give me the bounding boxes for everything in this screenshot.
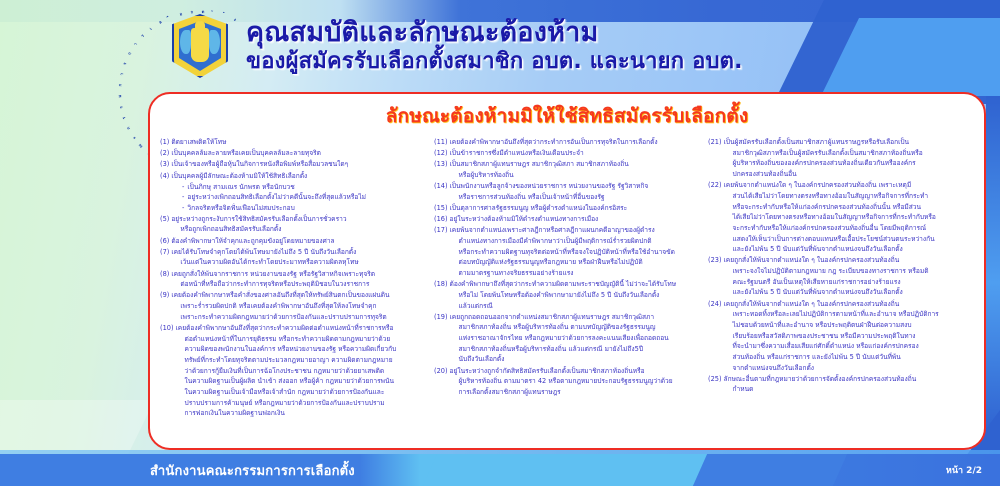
list-item: (12)เป็นข้าราชการซึ่งมีตำแหน่งหรือเงินเด… (434, 148, 700, 159)
list-item-continuation: แล้วแต่กรณี (450, 301, 700, 312)
list-item-continuation: จะกระทำกับหรือให้แก่องค์กรปกครองส่วนท้อง… (724, 223, 974, 234)
list-item-continuation: ต่อหน้าที่หรือถือว่ากระทำการทุจริตหรือปร… (171, 279, 426, 290)
emblem-circular-caption: สำนักงานคณะกรรมการการเลือกตั้ง (158, 8, 242, 92)
list-item: (2)เป็นบุคคลล้มละลายหรือเคยเป็นบุคคลล้มล… (160, 148, 426, 159)
list-item-number: (6) (160, 236, 171, 247)
list-item-text: อยู่ในระหว่างต้องห้ามมิให้ดำรงตำแหน่งทาง… (450, 214, 700, 225)
list-item-text: เป็นบุคคลผู้มีลักษณะต้องห้ามมิให้ใช้สิทธ… (171, 171, 426, 182)
list-item-continuation: สมาชิกวุฒิสภาหรือเป็นผู้สมัครรับเลือกตั้… (724, 148, 974, 159)
list-item-text: เคยได้รับโทษจำคุกโดยได้พ้นโทษมายังไม่ถึง… (171, 247, 426, 268)
list-item-text: อยู่ในระหว่างถูกจำกัดสิทธิสมัครรับเลือกต… (450, 366, 700, 398)
list-item-continuation: การฟอกเงินในความผิดฐานฟอกเงิน (176, 408, 426, 419)
list-item-text: เคยถูกถอดถอนออกจากตำแหน่งสมาชิกสภาผู้แทน… (450, 312, 700, 365)
list-item-text: ต้องคำพิพากษาให้จำคุกและถูกคุมขังอยู่โดย… (171, 236, 426, 247)
list-item-continuation: ตามมาตรฐานทางจริยธรรมอย่างร้ายแรง (450, 268, 700, 279)
list-item-number: (3) (160, 159, 171, 170)
list-item-continuation: หรือกระทำความผิดฐานทุจริตต่อหน้าที่หรือจ… (450, 247, 700, 258)
list-item-text: เคยพ้นจากตำแหน่งเพราะศาลฎีกาหรือศาลฎีกาแ… (450, 225, 700, 278)
list-item-continuation: จากตำแหน่งจนถึงวันเลือกตั้ง (724, 363, 974, 374)
list-item-text: ลักษณะอื่นตามที่กฎหมายว่าด้วยการจัดตั้งอ… (724, 374, 974, 395)
ect-emblem-icon: สำนักงานคณะกรรมการการเลือกตั้ง (158, 8, 242, 92)
list-item-text: เป็นตุลาการศาลรัฐธรรมนูญ หรือผู้ดำรงตำแห… (450, 203, 700, 214)
list-item-number: (18) (434, 279, 450, 290)
list-item: (11)เคยต้องคำพิพากษาอันถึงที่สุดว่ากระทำ… (434, 137, 700, 148)
list-item: (3)เป็นเจ้าของหรือผู้ถือหุ้นในกิจการหนัง… (160, 159, 426, 170)
list-item: (18)ต้องคำพิพากษาถึงที่สุดว่ากระทำความผิ… (434, 279, 700, 311)
list-item-text: เคยต้องคำพิพากษาอันถึงที่สุดว่ากระทำความ… (176, 323, 426, 419)
page-subtitle: ของผู้สมัครรับเลือกตั้งสมาชิก อบต. และนา… (246, 49, 743, 75)
sub-list-item-text: เป็นภิกษุ สามเณร นักพรต หรือนักบวช (187, 182, 294, 193)
list-item-continuation: ที่จะนำมาซึ่งความเสื่อมเสียแก่ศักดิ์ตำแห… (724, 341, 974, 352)
list-item-continuation: ต่อตำแหน่งหน้าที่ในการยุติธรรม หรือกระทำ… (176, 334, 426, 345)
list-item: (23)เคยถูกสั่งให้พ้นจากตำแหน่งใด ๆ ในองค… (708, 255, 974, 298)
sub-list-item: -วิกลจริตหรือจิตฟั่นเฟือนไม่สมประกอบ (160, 203, 426, 214)
sub-list-item: -อยู่ระหว่างเพิกถอนสิทธิเลือกตั้งไม่ว่าค… (160, 192, 426, 203)
list-item-continuation: ไม่ชอบด้วยหน้าที่และอำนาจ หรือประพฤติตนฝ… (724, 320, 974, 331)
list-item: (19)เคยถูกถอดถอนออกจากตำแหน่งสมาชิกสภาผู… (434, 312, 700, 365)
list-item: (14)เป็นพนักงานหรือลูกจ้างของหน่วยราชการ… (434, 181, 700, 202)
list-item-continuation: หรือผู้บริหารท้องถิ่น (450, 170, 700, 181)
list-item-continuation: สมาชิกสภาท้องถิ่น หรือผู้บริหารท้องถิ่น … (450, 322, 700, 333)
list-item-continuation: หรือราชการส่วนท้องถิ่น หรือเป็นเจ้าหน้าท… (450, 192, 700, 203)
card-heading: ลักษณะต้องห้ามมิให้ใช้สิทธิสมัครรับเลือก… (160, 101, 974, 131)
list-item-continuation: ในความผิดฐานเป็นเจ้ามือหรือเจ้าสำนัก กฎห… (176, 387, 426, 398)
list-item-number: (5) (160, 214, 171, 225)
list-item-continuation: ได้เสียไม่ว่าโดยทางตรงหรือทางอ้อมในสัญญา… (724, 212, 974, 223)
list-item: (24)เคยถูกสั่งให้พ้นจากตำแหน่งใด ๆ ในองค… (708, 299, 974, 374)
list-item: (8)เคยถูกสั่งให้พ้นจากราชการ หน่วยงานของ… (160, 269, 426, 290)
column-1: (1)ติดยาเสพติดให้โทษ(2)เป็นบุคคลล้มละลาย… (160, 137, 426, 447)
list-item-text: เป็นผู้สมัครรับเลือกตั้งเป็นสมาชิกสภาผู้… (724, 137, 974, 180)
list-item: (22)เคยพ้นจากตำแหน่งใด ๆ ในองค์กรปกครองส… (708, 180, 974, 255)
list-item-continuation: กำหนด (724, 384, 974, 395)
infographic-poster: สำนักงานคณะกรรมการการเลือกตั้ง คุณสมบัติ… (0, 0, 1000, 486)
list-item-continuation: ปราบปรามการค้ามนุษย์ หรือกฎหมายว่าด้วยกา… (176, 398, 426, 409)
list-item-text: เคยถูกสั่งให้พ้นจากตำแหน่งใด ๆ ในองค์กรป… (724, 255, 974, 298)
list-item: (6)ต้องคำพิพากษาให้จำคุกและถูกคุมขังอยู่… (160, 236, 426, 247)
list-item-continuation: ความผิดของพนักงานในองค์การ หรือหน่วยงานข… (176, 344, 426, 355)
footer-accent-blue (693, 454, 847, 486)
list-item: (9)เคยต้องคำพิพากษาหรือคำสั่งของศาลอันถึ… (160, 290, 426, 322)
right-edge-strip (986, 96, 1000, 436)
list-item-continuation: และยังไม่พ้น 5 ปี นับแต่วันที่พ้นจากตำแห… (724, 244, 974, 255)
list-item-number: (12) (434, 148, 450, 159)
list-item-text: เป็นพนักงานหรือลูกจ้างของหน่วยราชการ หน่… (450, 181, 700, 202)
list-item-number: (11) (434, 137, 450, 148)
list-item-number: (15) (434, 203, 450, 214)
list-item-number: (1) (160, 137, 171, 148)
poster-header: สำนักงานคณะกรรมการการเลือกตั้ง คุณสมบัติ… (0, 0, 1000, 92)
header-titles: คุณสมบัติและลักษณะต้องห้าม ของผู้สมัครรั… (246, 17, 743, 75)
list-item: (20)อยู่ในระหว่างถูกจำกัดสิทธิสมัครรับเล… (434, 366, 700, 398)
list-column-2: (11)เคยต้องคำพิพากษาอันถึงที่สุดว่ากระทำ… (434, 137, 700, 398)
list-item-continuation: และยังไม่พ้น 5 ปี นับแต่วันที่พ้นจากตำแห… (724, 287, 974, 298)
list-item-continuation: ทรัพย์ที่กระทำโดยทุจริตตามประมวลกฎหมายอา… (176, 355, 426, 366)
list-item-text: เป็นบุคคลล้มละลายหรือเคยเป็นบุคคลล้มละลา… (171, 148, 426, 159)
list-item-number: (17) (434, 225, 450, 236)
sub-list-item-text: อยู่ระหว่างเพิกถอนสิทธิเลือกตั้งไม่ว่าคด… (187, 192, 366, 203)
list-item-continuation: ส่วนได้เสียไม่ว่าโดยทางตรงหรือทางอ้อมในส… (724, 191, 974, 202)
list-item-text: เป็นสมาชิกสภาผู้แทนราษฎร สมาชิกวุฒิสภา ส… (450, 159, 700, 180)
footer-page-number: หน้า 2/2 (946, 463, 982, 477)
page-title: คุณสมบัติและลักษณะต้องห้าม (246, 17, 743, 48)
list-item-continuation: ในความผิดฐานเป็นผู้ผลิต นำเข้า ส่งออก หร… (176, 376, 426, 387)
list-item-number: (23) (708, 255, 724, 266)
list-item-number: (8) (160, 269, 171, 280)
list-item-continuation: ผู้บริหารท้องถิ่น ตามมาตรา 42 หรือตามกฎห… (450, 376, 700, 387)
list-item-number: (7) (160, 247, 171, 258)
list-item-text: เป็นข้าราชการซึ่งมีตำแหน่งหรือเงินเดือนป… (450, 148, 700, 159)
list-item-continuation: เพราะจงใจไม่ปฏิบัติตามกฎหมาย กฎ ระเบียบข… (724, 266, 974, 277)
list-item-text: เคยพ้นจากตำแหน่งใด ๆ ในองค์กรปกครองส่วนท… (724, 180, 974, 255)
list-item-continuation: เว้นแต่ในความผิดอันได้กระทำโดยประมาทหรือ… (171, 257, 426, 268)
list-item-text: ต้องคำพิพากษาถึงที่สุดว่ากระทำความผิดตาม… (450, 279, 700, 311)
column-2: (11)เคยต้องคำพิพากษาอันถึงที่สุดว่ากระทำ… (434, 137, 700, 447)
list-item-continuation: นับถึงวันเลือกตั้ง (450, 354, 700, 365)
list-item: (13)เป็นสมาชิกสภาผู้แทนราษฎร สมาชิกวุฒิส… (434, 159, 700, 180)
list-item-continuation: การเลือกตั้งสมาชิกสภาผู้แทนราษฎร (450, 387, 700, 398)
list-item-text: เคยต้องคำพิพากษาอันถึงที่สุดว่ากระทำการอ… (450, 137, 700, 148)
list-item-number: (14) (434, 181, 450, 192)
list-item-text: เคยต้องคำพิพากษาหรือคำสั่งของศาลอันถึงที… (171, 290, 426, 322)
footer-accent-cyan (423, 454, 737, 486)
list-item-number: (16) (434, 214, 450, 225)
list-item-number: (4) (160, 171, 171, 182)
list-item-number: (25) (708, 374, 724, 385)
list-item: (10)เคยต้องคำพิพากษาอันถึงที่สุดว่ากระทำ… (160, 323, 426, 419)
list-item-continuation: ส่วนท้องถิ่น หรือแก่ราชการ และยังไม่พ้น … (724, 352, 974, 363)
list-item: (7)เคยได้รับโทษจำคุกโดยได้พ้นโทษมายังไม่… (160, 247, 426, 268)
footer-organization: สำนักงานคณะกรรมการการเลือกตั้ง (150, 460, 355, 481)
list-item-number: (21) (708, 137, 724, 148)
list-item-continuation: คณะรัฐมนตรี อันเป็นเหตุให้เสียหายแก่ราชก… (724, 277, 974, 288)
list-item-continuation: เพราะทอดทิ้งหรือละเลยไม่ปฏิบัติการตามหน้… (724, 309, 974, 320)
list-item-continuation: เพราะร่ำรวยผิดปกติ หรือเคยต้องคำพิพากษาอ… (171, 301, 426, 312)
list-item-continuation: แสดงให้เห็นว่าเป็นการต่างตอบแทนหรือเอื้อ… (724, 234, 974, 245)
list-item: (4)เป็นบุคคลผู้มีลักษณะต้องห้ามมิให้ใช้ส… (160, 171, 426, 182)
list-item-continuation: ตำแหน่งทางการเมืองมีคำพิพากษาว่าเป็นผู้ม… (450, 236, 700, 247)
content-card: ลักษณะต้องห้ามมิให้ใช้สิทธิสมัครรับเลือก… (148, 92, 986, 450)
list-item-continuation: ปกครองส่วนท้องถิ่นอื่น (724, 169, 974, 180)
list-item-continuation: ต่อบทบัญญัติแห่งรัฐธรรมนูญหรือกฎหมาย หรื… (450, 257, 700, 268)
list-item: (21)เป็นผู้สมัครรับเลือกตั้งเป็นสมาชิกสภ… (708, 137, 974, 180)
list-item-number: (24) (708, 299, 724, 310)
list-column-3: (21)เป็นผู้สมัครรับเลือกตั้งเป็นสมาชิกสภ… (708, 137, 974, 395)
list-item-text: เคยถูกสั่งให้พ้นจากตำแหน่งใด ๆ ในองค์กรป… (724, 299, 974, 374)
list-item: (1)ติดยาเสพติดให้โทษ (160, 137, 426, 148)
sub-list-item-text: วิกลจริตหรือจิตฟั่นเฟือนไม่สมประกอบ (187, 203, 294, 214)
list-item-text: อยู่ระหว่างถูกระงับการใช้สิทธิสมัครรับเล… (171, 214, 426, 235)
sub-list-item: -เป็นภิกษุ สามเณร นักพรต หรือนักบวช (160, 182, 426, 193)
content-columns: (1)ติดยาเสพติดให้โทษ(2)เป็นบุคคลล้มละลาย… (160, 137, 974, 447)
list-item-continuation: สมาชิกสภาท้องถิ่นหรือผู้บริหารท้องถิ่น แ… (450, 344, 700, 355)
list-item-number: (10) (160, 323, 176, 334)
list-item-number: (19) (434, 312, 450, 323)
list-item: (17)เคยพ้นจากตำแหน่งเพราะศาลฎีกาหรือศาลฎ… (434, 225, 700, 278)
list-item-continuation: หรือจะกระทำกับหรือให้แก่องค์กรปกครองส่วน… (724, 202, 974, 213)
list-item-text: ติดยาเสพติดให้โทษ (171, 137, 426, 148)
list-column-1: (1)ติดยาเสพติดให้โทษ(2)เป็นบุคคลล้มละลาย… (160, 137, 426, 419)
list-item-continuation: หรือไม่ โดยพ้นโทษหรือต้องคำพิพากษามายังไ… (450, 290, 700, 301)
list-item-continuation: หรือถูกเพิกถอนสิทธิสมัครรับเลือกตั้ง (171, 224, 426, 235)
list-item-continuation: เพราะกระทำความผิดกฎหมายว่าด้วยการป้องกัน… (171, 312, 426, 323)
list-item: (16)อยู่ในระหว่างต้องห้ามมิให้ดำรงตำแหน่… (434, 214, 700, 225)
column-3: (21)เป็นผู้สมัครรับเลือกตั้งเป็นสมาชิกสภ… (708, 137, 974, 447)
list-item-number: (20) (434, 366, 450, 377)
list-item: (15)เป็นตุลาการศาลรัฐธรรมนูญ หรือผู้ดำรง… (434, 203, 700, 214)
list-item-continuation: ว่าด้วยการกู้ยืมเงินที่เป็นการฉ้อโกงประช… (176, 366, 426, 377)
list-item-number: (22) (708, 180, 724, 191)
list-item: (5)อยู่ระหว่างถูกระงับการใช้สิทธิสมัครรั… (160, 214, 426, 235)
list-item-number: (13) (434, 159, 450, 170)
list-item-text: เป็นเจ้าของหรือผู้ถือหุ้นในกิจการหนังสือ… (171, 159, 426, 170)
list-item-number: (9) (160, 290, 171, 301)
list-item-text: เคยถูกสั่งให้พ้นจากราชการ หน่วยงานของรัฐ… (171, 269, 426, 290)
list-item-continuation: ผู้บริหารท้องถิ่นขององค์กรปกครองส่วนท้อง… (724, 158, 974, 169)
list-item-continuation: แห่งราชอาณาจักรไทย หรือกฎหมายว่าด้วยการล… (450, 333, 700, 344)
list-item-continuation: เรียบร้อยหรือสวัสดิภาพของประชาชน หรือมีค… (724, 331, 974, 342)
poster-footer: สำนักงานคณะกรรมการการเลือกตั้ง หน้า 2/2 (0, 454, 1000, 486)
list-item-number: (2) (160, 148, 171, 159)
list-item: (25)ลักษณะอื่นตามที่กฎหมายว่าด้วยการจัดต… (708, 374, 974, 395)
